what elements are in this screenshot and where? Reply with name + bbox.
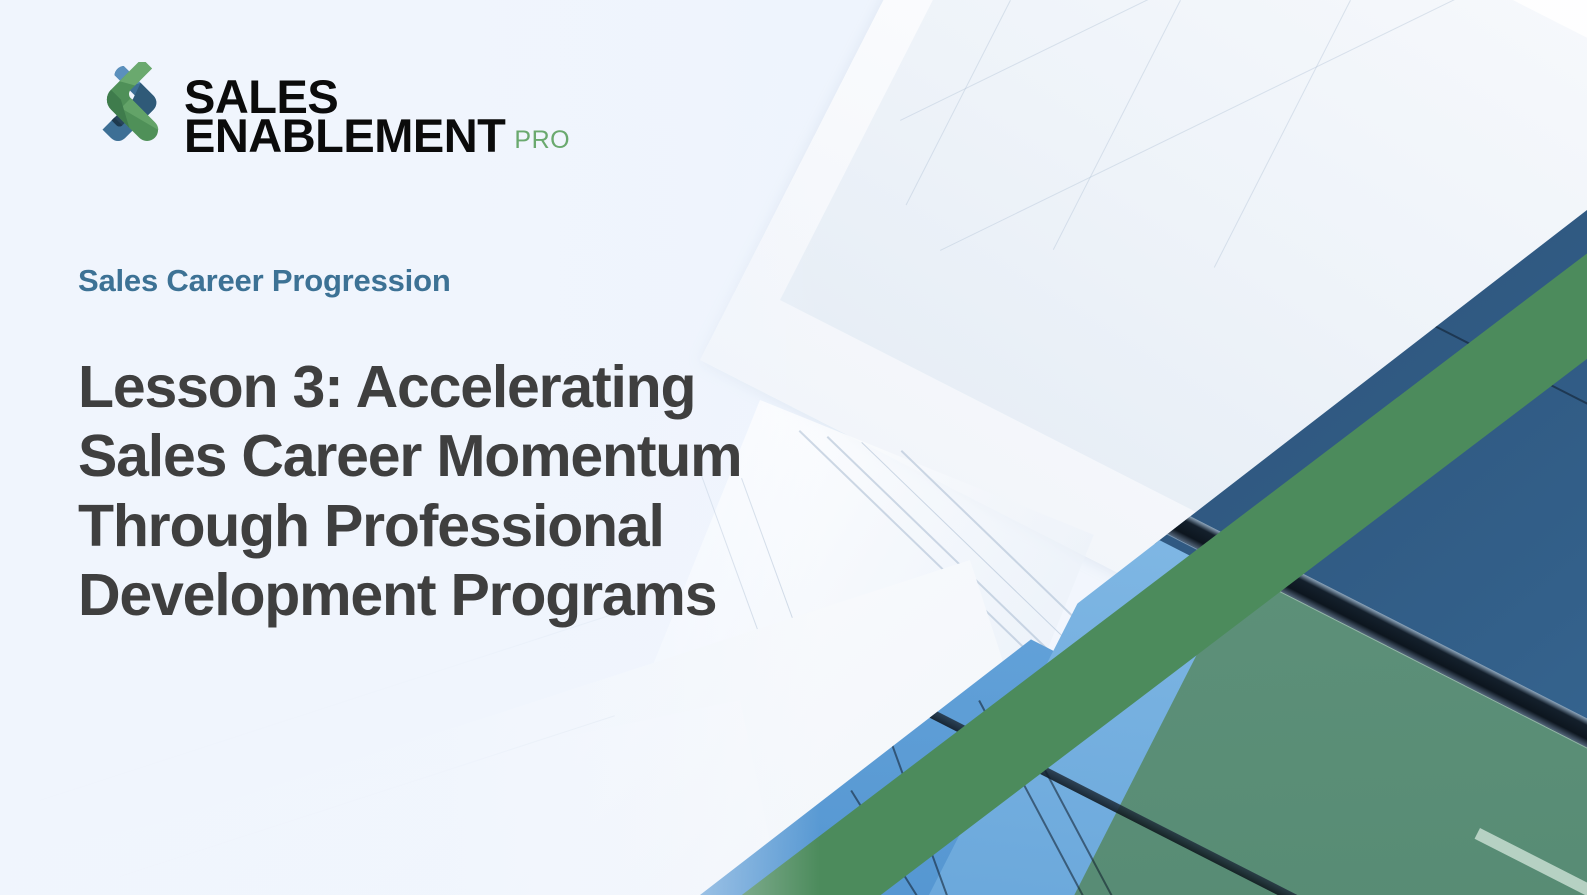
- lesson-title-line: Sales Career Momentum: [78, 422, 978, 492]
- brand-logo[interactable]: SALES ENABLEMENT PRO: [78, 62, 570, 170]
- lesson-title-line: Development Programs: [78, 561, 978, 631]
- lesson-title: Lesson 3: Accelerating Sales Career Mome…: [78, 353, 978, 631]
- lesson-title-line: Through Professional: [78, 492, 978, 562]
- logo-line-2: ENABLEMENT PRO: [184, 116, 570, 155]
- logo-word-enablement: ENABLEMENT: [184, 116, 505, 155]
- lesson-title-line: Lesson 3: Accelerating: [78, 353, 978, 423]
- logo-word-pro: PRO: [514, 130, 570, 155]
- logo-wordmark: SALES ENABLEMENT PRO: [184, 77, 570, 156]
- lesson-title-slide: SALES ENABLEMENT PRO Sales Career Progre…: [0, 0, 1587, 895]
- course-eyebrow: Sales Career Progression: [78, 263, 451, 299]
- interlocking-diamond-chain-mark: [78, 62, 168, 170]
